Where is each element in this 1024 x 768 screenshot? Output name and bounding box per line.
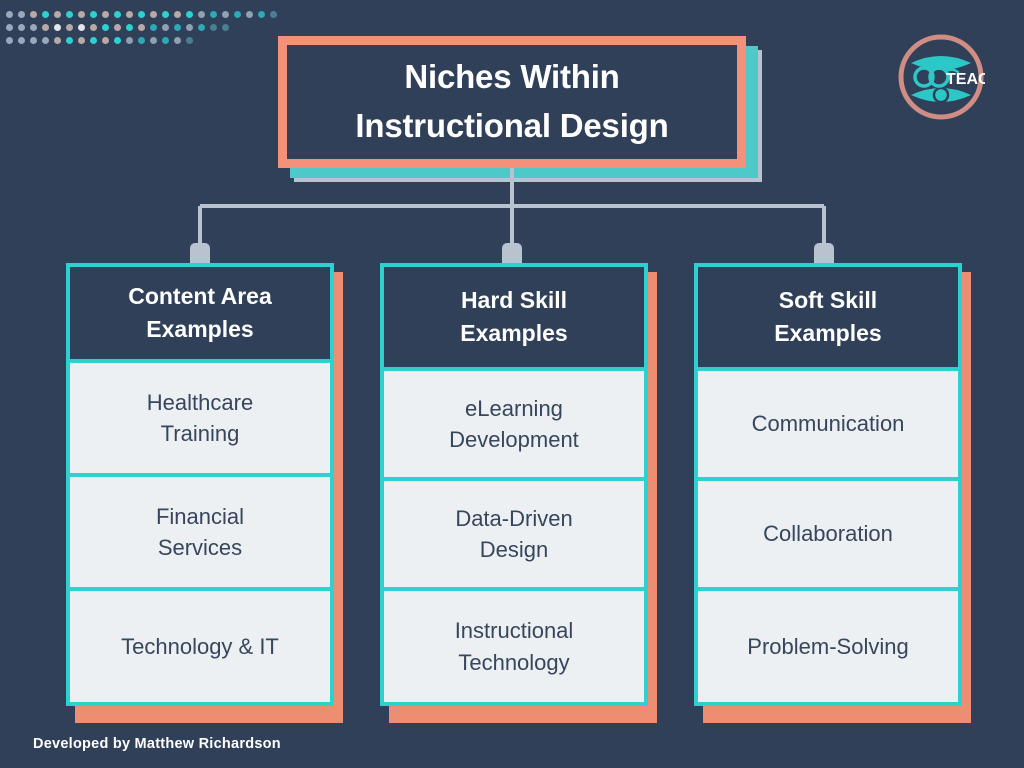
decorative-dot: [114, 24, 121, 31]
decorative-dot: [150, 37, 157, 44]
go-teach-logo: TEACH: [897, 33, 985, 121]
decorative-dot: [246, 11, 253, 18]
decorative-dot: [42, 11, 49, 18]
list-item[interactable]: Problem-Solving: [694, 587, 962, 706]
decorative-dot: [126, 37, 133, 44]
decorative-dot: [150, 24, 157, 31]
dot-row: [6, 21, 186, 34]
decorative-dot: [162, 24, 169, 31]
column-header: Soft Skill Examples: [694, 263, 962, 371]
decorative-dot: [186, 24, 193, 31]
list-item[interactable]: eLearning Development: [380, 367, 648, 481]
decorative-dot: [78, 24, 85, 31]
decorative-dot: [114, 37, 121, 44]
list-item[interactable]: Technology & IT: [66, 587, 334, 706]
decorative-dot: [42, 24, 49, 31]
footer-credit: Developed by Matthew Richardson: [33, 736, 281, 752]
decorative-dot: [18, 11, 25, 18]
decorative-dot: [198, 11, 205, 18]
column-body: Content Area Examples Healthcare Trainin…: [66, 263, 334, 706]
decorative-dot: [18, 24, 25, 31]
decorative-dot: [198, 24, 205, 31]
logo-wordmark: TEACH: [946, 71, 985, 88]
decorative-dot: [258, 11, 265, 18]
decorative-dot: [90, 11, 97, 18]
decorative-dot: [234, 11, 241, 18]
decorative-dot: [66, 11, 73, 18]
list-item[interactable]: Data-Driven Design: [380, 477, 648, 591]
dot-row: [6, 8, 186, 21]
decorative-dot: [102, 24, 109, 31]
column-header: Content Area Examples: [66, 263, 334, 363]
decorative-dot: [30, 24, 37, 31]
decorative-dot: [222, 11, 229, 18]
decorative-dot: [162, 37, 169, 44]
decorative-dot: [186, 11, 193, 18]
decorative-dot: [66, 24, 73, 31]
decorative-dot: [210, 11, 217, 18]
title-frame: Niches Within Instructional Design: [278, 36, 746, 168]
title-block: Niches Within Instructional Design: [278, 36, 746, 168]
decorative-dot-grid: [6, 8, 186, 48]
decorative-dot: [42, 37, 49, 44]
decorative-dot: [138, 11, 145, 18]
logo-icon: TEACH: [897, 33, 985, 121]
decorative-dot: [138, 24, 145, 31]
decorative-dot: [54, 37, 61, 44]
decorative-dot: [78, 11, 85, 18]
decorative-dot: [138, 37, 145, 44]
list-item[interactable]: Instructional Technology: [380, 587, 648, 706]
decorative-dot: [174, 37, 181, 44]
decorative-dot: [6, 37, 13, 44]
decorative-dot: [90, 37, 97, 44]
decorative-dot: [30, 11, 37, 18]
page-title: Niches Within Instructional Design: [355, 53, 668, 151]
decorative-dot: [150, 11, 157, 18]
dot-row: [6, 34, 186, 47]
list-item[interactable]: Healthcare Training: [66, 359, 334, 477]
decorative-dot: [102, 11, 109, 18]
column-soft-skill: Soft Skill Examples Communication Collab…: [694, 263, 962, 706]
decorative-dot: [6, 11, 13, 18]
decorative-dot: [186, 37, 193, 44]
list-item[interactable]: Collaboration: [694, 477, 962, 591]
decorative-dot: [54, 24, 61, 31]
column-header: Hard Skill Examples: [380, 263, 648, 371]
column-content-area: Content Area Examples Healthcare Trainin…: [66, 263, 334, 706]
decorative-dot: [222, 24, 229, 31]
decorative-dot: [78, 37, 85, 44]
column-hard-skill: Hard Skill Examples eLearning Developmen…: [380, 263, 648, 706]
decorative-dot: [18, 37, 25, 44]
decorative-dot: [54, 11, 61, 18]
decorative-dot: [174, 24, 181, 31]
decorative-dot: [162, 11, 169, 18]
list-item[interactable]: Communication: [694, 367, 962, 481]
decorative-dot: [30, 37, 37, 44]
decorative-dot: [174, 11, 181, 18]
decorative-dot: [270, 11, 277, 18]
decorative-dot: [102, 37, 109, 44]
decorative-dot: [90, 24, 97, 31]
decorative-dot: [210, 24, 217, 31]
list-item[interactable]: Financial Services: [66, 473, 334, 591]
decorative-dot: [126, 11, 133, 18]
column-body: Hard Skill Examples eLearning Developmen…: [380, 263, 648, 706]
column-body: Soft Skill Examples Communication Collab…: [694, 263, 962, 706]
decorative-dot: [114, 11, 121, 18]
decorative-dot: [6, 24, 13, 31]
decorative-dot: [126, 24, 133, 31]
decorative-dot: [66, 37, 73, 44]
